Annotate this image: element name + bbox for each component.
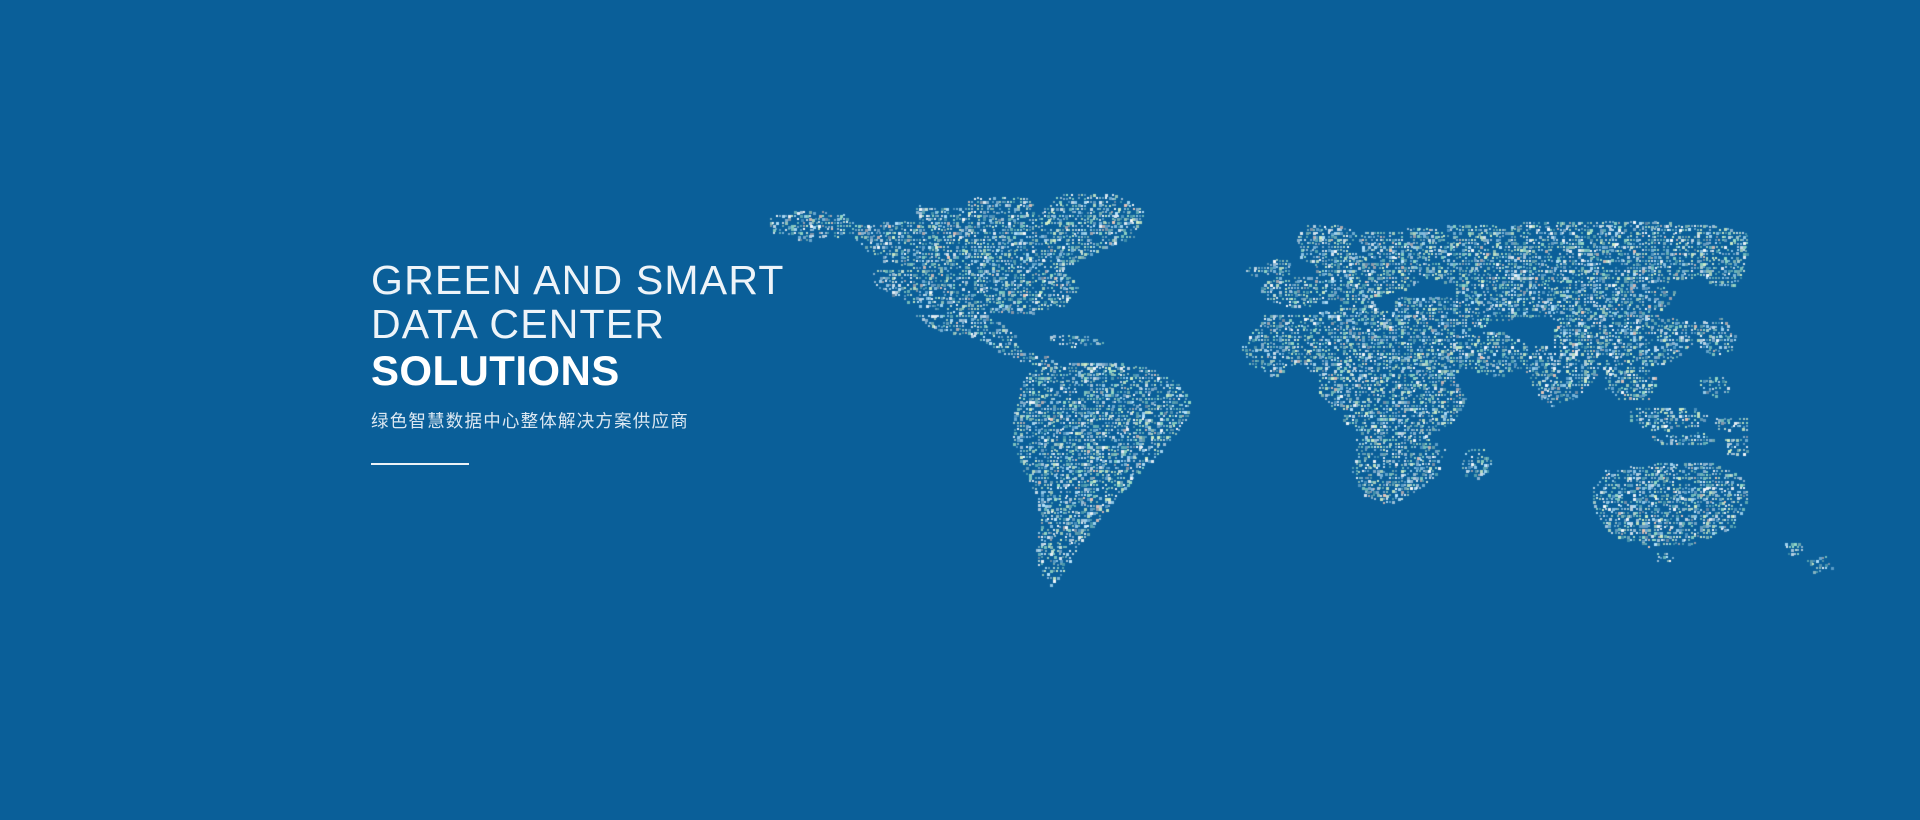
hero-subtitle: 绿色智慧数据中心整体解决方案供应商 xyxy=(371,408,991,433)
headline-line-1: GREEN AND SMART xyxy=(371,258,991,302)
headline-line-3: SOLUTIONS xyxy=(371,346,991,396)
headline-line-2: DATA CENTER xyxy=(371,302,991,346)
hero-divider xyxy=(371,463,469,465)
hero-banner: GREEN AND SMART DATA CENTER SOLUTIONS 绿色… xyxy=(0,0,1920,820)
hero-text-block: GREEN AND SMART DATA CENTER SOLUTIONS 绿色… xyxy=(371,258,991,465)
